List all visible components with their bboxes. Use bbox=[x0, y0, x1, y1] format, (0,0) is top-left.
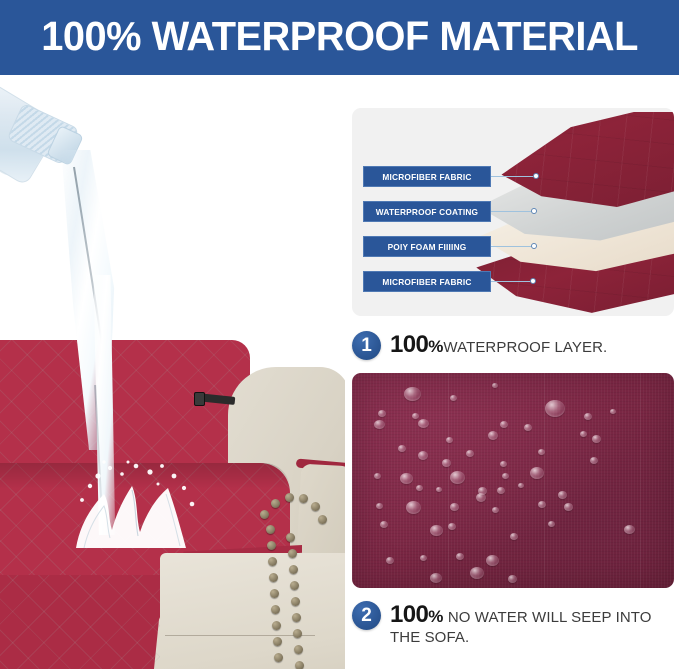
material-layer-diagram: MICROFIBER FABRIC WATERPROOF COATING POI… bbox=[352, 108, 674, 316]
layer-label-microfiber-fabric-bottom[interactable]: MICROFIBER FABRIC bbox=[363, 271, 491, 292]
nailhead-trim-stud bbox=[267, 541, 276, 550]
quilt-pattern bbox=[0, 340, 250, 475]
callout-1: 1 100%WATERPROOF LAYER. bbox=[352, 331, 674, 360]
waterproof-demo-photo bbox=[0, 75, 345, 669]
nailhead-trim-stud bbox=[299, 494, 308, 503]
layer-label-list: MICROFIBER FABRIC WATERPROOF COATING POI… bbox=[363, 166, 491, 292]
nailhead-trim-stud bbox=[269, 573, 278, 582]
leader-line bbox=[491, 211, 534, 212]
callout-2: 2 100% NO WATER WILL SEEP INTO THE SOFA. bbox=[352, 601, 674, 647]
layer-label-poly-foam-filling[interactable]: POIY FOAM FIlIING bbox=[363, 236, 491, 257]
nailhead-trim-stud bbox=[268, 557, 277, 566]
leader-line bbox=[491, 281, 533, 282]
layer-label-waterproof-coating[interactable]: WATERPROOF COATING bbox=[363, 201, 491, 222]
sofa-backrest bbox=[0, 340, 250, 475]
leader-line bbox=[491, 246, 534, 247]
nailhead-trim-stud bbox=[271, 605, 280, 614]
product-infographic: 100% WATERPROOF MATERIAL bbox=[0, 0, 679, 669]
callout-1-percent: 100 bbox=[390, 331, 428, 358]
panel-vignette bbox=[352, 373, 674, 588]
leader-dot bbox=[530, 278, 536, 284]
nailhead-trim-stud bbox=[291, 597, 300, 606]
nailhead-trim-stud bbox=[285, 493, 294, 502]
leader-dot bbox=[531, 208, 537, 214]
nailhead-trim-stud bbox=[271, 499, 280, 508]
nailhead-trim-stud bbox=[286, 533, 295, 542]
armchair-front-panel bbox=[160, 553, 345, 669]
nailhead-trim-stud bbox=[289, 565, 298, 574]
leader-line bbox=[491, 176, 536, 177]
callout-2-percent: 100 bbox=[390, 601, 428, 628]
strap-buckle bbox=[194, 392, 205, 406]
banner-title: 100% WATERPROOF MATERIAL bbox=[41, 16, 638, 59]
right-info-column: MICROFIBER FABRIC WATERPROOF COATING POI… bbox=[352, 108, 674, 647]
nailhead-trim-stud bbox=[272, 621, 281, 630]
nailhead-trim-stud bbox=[288, 549, 297, 558]
leader-dot bbox=[531, 243, 537, 249]
nailhead-trim-stud bbox=[292, 613, 301, 622]
callout-2-percent-sign: % bbox=[428, 607, 443, 626]
header-banner: 100% WATERPROOF MATERIAL bbox=[0, 0, 679, 75]
nailhead-trim-stud bbox=[270, 589, 279, 598]
callout-1-description: WATERPROOF LAYER. bbox=[443, 339, 607, 356]
layer-label-microfiber-fabric-top[interactable]: MICROFIBER FABRIC bbox=[363, 166, 491, 187]
nailhead-trim-stud bbox=[318, 515, 327, 524]
nailhead-trim-stud bbox=[260, 510, 269, 519]
nailhead-trim-stud bbox=[293, 629, 302, 638]
water-beading-fabric-closeup bbox=[352, 373, 674, 588]
callout-1-percent-sign: % bbox=[428, 337, 443, 356]
callout-1-text: 100%WATERPROOF LAYER. bbox=[390, 331, 607, 359]
callout-2-number-badge: 2 bbox=[352, 601, 381, 630]
nailhead-trim-stud bbox=[295, 661, 304, 669]
water-splash-crown bbox=[70, 460, 200, 552]
nailhead-trim-stud bbox=[273, 637, 282, 646]
nailhead-trim-stud bbox=[290, 581, 299, 590]
nailhead-trim-stud bbox=[266, 525, 275, 534]
callout-1-number-badge: 1 bbox=[352, 331, 381, 360]
callout-2-text: 100% NO WATER WILL SEEP INTO THE SOFA. bbox=[390, 601, 674, 647]
leader-dot bbox=[533, 173, 539, 179]
nailhead-trim-stud bbox=[311, 502, 320, 511]
nailhead-trim-stud bbox=[274, 653, 283, 662]
nailhead-trim-stud bbox=[294, 645, 303, 654]
